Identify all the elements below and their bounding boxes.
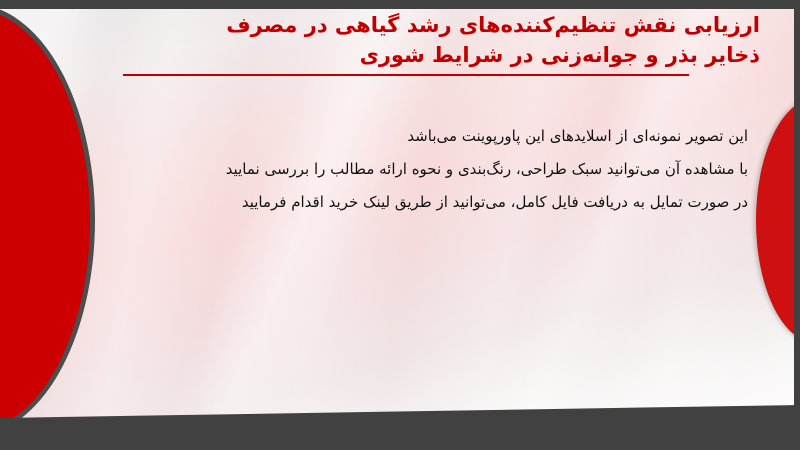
body-line-1: این تصویر نمونه‌ای از اسلایدهای این پاور… [98, 120, 748, 153]
slide-title-line-1: ارزیابی نقش تنظیم‌کننده‌های رشد گیاهی در… [80, 10, 760, 40]
frame-edge-top [0, 0, 800, 9]
body-line-2: با مشاهده آن می‌توانید سبک طراحی، رنگ‌بن… [98, 153, 748, 186]
frame-edge-right [794, 0, 800, 450]
presentation-slide: ارزیابی نقش تنظیم‌کننده‌های رشد گیاهی در… [0, 0, 800, 450]
body-line-3: در صورت تمایل به دریافت فایل کامل، می‌تو… [98, 186, 748, 219]
slide-background [0, 9, 800, 429]
slide-body: این تصویر نمونه‌ای از اسلایدهای این پاور… [98, 120, 748, 219]
title-underline-rule [123, 74, 689, 76]
slide-title: ارزیابی نقش تنظیم‌کننده‌های رشد گیاهی در… [80, 10, 760, 70]
slide-title-line-2: ذخایر بذر و جوانه‌زنی در شرایط شوری [80, 40, 760, 70]
